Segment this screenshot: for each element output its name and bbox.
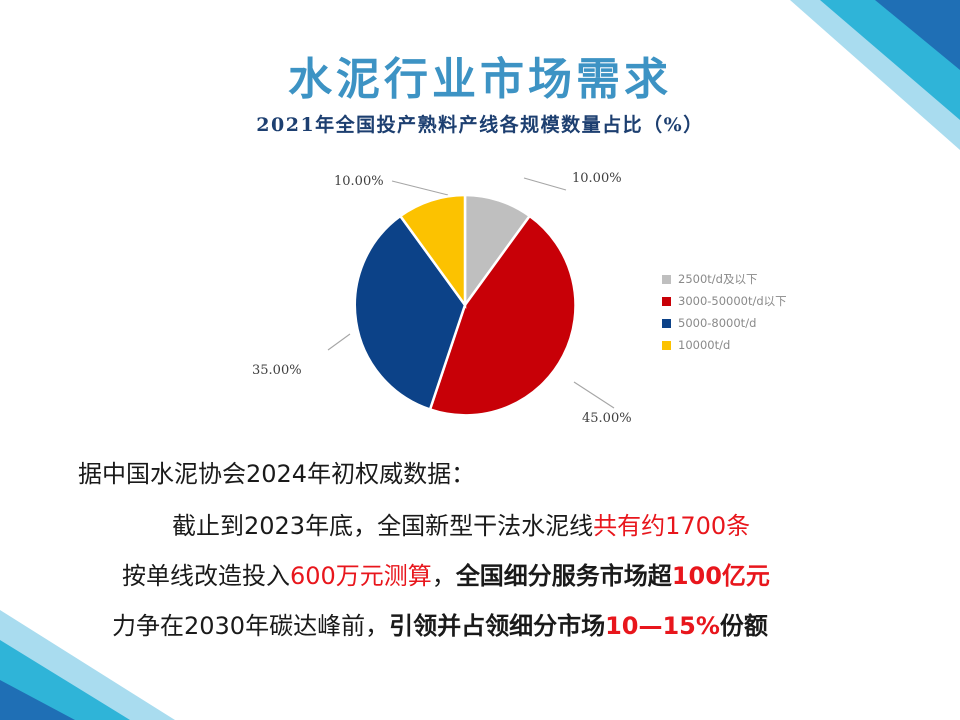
body-line-3-highlight-1: 600万元测算: [290, 562, 432, 590]
legend-swatch-icon: [662, 297, 671, 306]
body-line-3-text: 按单线改造投入: [122, 562, 290, 590]
data-label-blue: 35.00%: [252, 363, 302, 378]
body-line-3: 按单线改造投入600万元测算，全国细分服务市场超100亿元: [0, 564, 960, 588]
body-line-1: 据中国水泥协会2024年初权威数据：: [0, 462, 960, 486]
legend-item[interactable]: 3000-50000t/d以下: [662, 290, 842, 312]
legend-item[interactable]: 10000t/d: [662, 334, 842, 356]
chart-legend: 2500t/d及以下 3000-50000t/d以下 5000-8000t/d …: [662, 268, 842, 356]
legend-item[interactable]: 2500t/d及以下: [662, 268, 842, 290]
legend-item-label: 3000-50000t/d以下: [678, 293, 787, 309]
legend-swatch-icon: [662, 341, 671, 350]
body-line-3-bold: 全国细分服务市场超: [456, 562, 672, 590]
title-block: 水泥行业市场需求 2021年全国投产熟料产线各规模数量占比（%）: [0, 56, 960, 137]
legend-swatch-icon: [662, 319, 671, 328]
body-line-1-text: 据中国水泥协会2024年初权威数据：: [78, 460, 475, 488]
body-line-2: 截止到2023年底，全国新型干法水泥线共有约1700条: [0, 514, 960, 538]
body-line-2-text: 截止到2023年底，全国新型干法水泥线: [172, 512, 593, 540]
body-text-block: 据中国水泥协会2024年初权威数据： 截止到2023年底，全国新型干法水泥线共有…: [0, 462, 960, 638]
body-line-4-highlight: 10—15%: [605, 612, 720, 640]
page-title: 水泥行业市场需求: [0, 56, 960, 104]
body-line-4-bold: 引领并占领细分市场: [389, 612, 605, 640]
legend-item-label: 2500t/d及以下: [678, 271, 757, 287]
pie-slices: [355, 195, 576, 415]
data-label-yellow: 10.00%: [334, 174, 384, 189]
legend-swatch-icon: [662, 275, 671, 284]
legend-item-label: 10000t/d: [678, 338, 730, 352]
body-line-3-comma: ，: [432, 562, 456, 590]
chart-subtitle: 2021年全国投产熟料产线各规模数量占比（%）: [0, 110, 960, 137]
body-line-2-highlight: 共有约1700条: [593, 512, 750, 540]
body-line-4-bold-tail: 份额: [720, 612, 768, 640]
legend-item[interactable]: 5000-8000t/d: [662, 312, 842, 334]
data-label-red: 45.00%: [582, 411, 632, 426]
body-line-3-highlight-2: 100亿元: [672, 562, 770, 590]
legend-item-label: 5000-8000t/d: [678, 316, 756, 330]
body-line-4: 力争在2030年碳达峰前，引领并占领细分市场10—15%份额: [0, 614, 960, 638]
data-label-gray: 10.00%: [572, 171, 622, 186]
body-line-4-text: 力争在2030年碳达峰前，: [112, 612, 389, 640]
pie-chart-container: 10.00% 10.00% 35.00% 45.00% 2500t/d及以下 3…: [0, 150, 960, 450]
